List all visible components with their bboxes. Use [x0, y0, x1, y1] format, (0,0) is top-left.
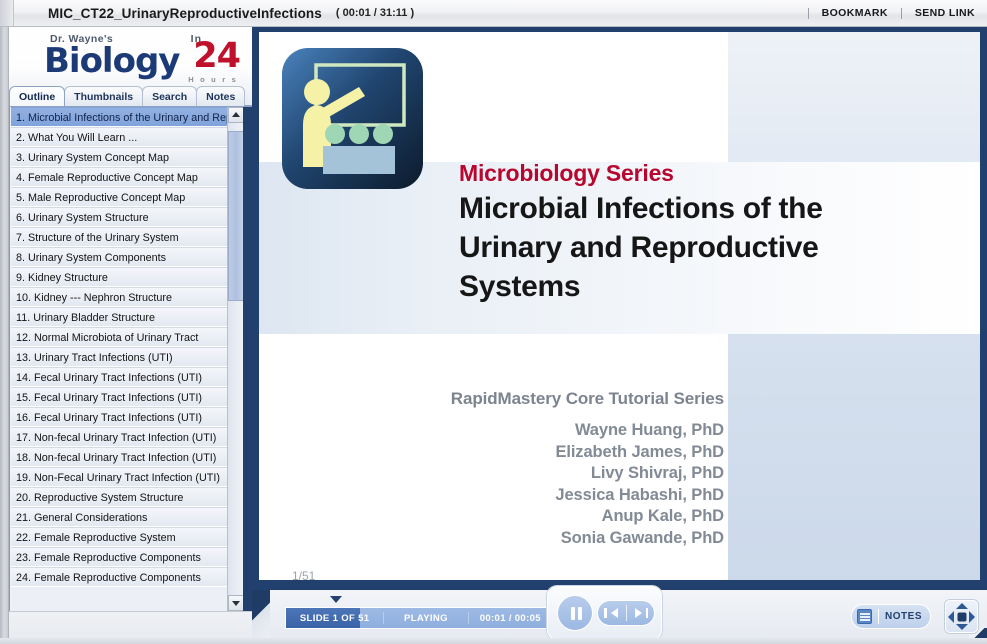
- sidebar: Dr. Wayne's Biology In 24 H o u r s Outl…: [0, 27, 252, 644]
- step-controls: [597, 600, 655, 626]
- outline-item[interactable]: 10. Kidney --- Nephron Structure: [11, 287, 237, 307]
- send-link-button[interactable]: SEND LINK: [915, 7, 975, 19]
- window-bottom-strip: [0, 638, 987, 644]
- notes-button-label: NOTES: [885, 611, 926, 622]
- notes-document-icon: [857, 609, 872, 624]
- outline-item[interactable]: 5. Male Reproductive Concept Map: [11, 187, 237, 207]
- playback-status: PLAYING: [384, 613, 467, 624]
- progress-bar[interactable]: SLIDE 1 OF 51 PLAYING 00:01 / 00:05: [285, 607, 553, 629]
- tab-search[interactable]: Search: [142, 86, 197, 106]
- outline-item[interactable]: 21. General Considerations: [11, 507, 237, 527]
- expand-down-icon: [956, 624, 968, 630]
- tab-thumbnails[interactable]: Thumbnails: [64, 86, 143, 106]
- expand-up-icon: [956, 603, 968, 609]
- slide-counter: 1/51: [292, 569, 315, 580]
- author-name: Livy Shivraj, PhD: [374, 463, 724, 485]
- outline-panel: 1. Microbial Infections of the Urinary a…: [9, 107, 252, 611]
- chevron-down-icon: [232, 601, 240, 606]
- step-backward-bar-icon: [604, 608, 607, 618]
- logo-hours-text: H o u r s: [188, 75, 238, 84]
- bookmark-button[interactable]: BOOKMARK: [822, 7, 888, 19]
- outline-list[interactable]: 1. Microbial Infections of the Urinary a…: [11, 107, 237, 611]
- outline-item[interactable]: 12. Normal Microbiota of Urinary Tract: [11, 327, 237, 347]
- window-title-bar: MIC_CT22_UrinaryReproductiveInfections (…: [0, 0, 987, 27]
- slide-title-line-3: Systems: [459, 267, 979, 306]
- sidebar-left-gutter: [0, 27, 9, 644]
- slide-title: Microbial Infections of the Urinary and …: [459, 189, 979, 306]
- author-name: Sonia Gawande, PhD: [374, 528, 724, 550]
- playback-time: 00:01 / 00:05: [469, 613, 552, 624]
- scrollbar-thumb[interactable]: [228, 131, 244, 301]
- tabs-filler: [244, 87, 252, 106]
- next-step-button[interactable]: [627, 601, 655, 625]
- outline-item[interactable]: 6. Urinary System Structure: [11, 207, 237, 227]
- scroll-down-button[interactable]: [228, 595, 244, 611]
- fullscreen-button[interactable]: [945, 600, 978, 633]
- author-name: Elizabeth James, PhD: [374, 442, 724, 464]
- author-name: Anup Kale, PhD: [374, 506, 724, 528]
- page-title: MIC_CT22_UrinaryReproductiveInfections: [48, 6, 322, 21]
- outline-item[interactable]: 23. Female Reproductive Components: [11, 547, 237, 567]
- logo-main-text: Biology: [44, 41, 179, 81]
- author-name: Jessica Habashi, PhD: [374, 485, 724, 507]
- outline-right-rail: [243, 107, 252, 611]
- outline-item[interactable]: 4. Female Reproductive Concept Map: [11, 167, 237, 187]
- progress-panel: SLIDE 1 OF 51 PLAYING 00:01 / 00:05: [268, 590, 558, 644]
- outline-item[interactable]: 14. Fecal Urinary Tract Infections (UTI): [11, 367, 237, 387]
- author-list: Wayne Huang, PhD Elizabeth James, PhD Li…: [374, 420, 724, 549]
- expand-right-icon: [969, 611, 975, 623]
- notes-button[interactable]: NOTES: [851, 604, 931, 629]
- sidebar-tabs: Outline Thumbnails Search Notes: [9, 87, 252, 107]
- slide-title-block: Microbiology Series Microbial Infections…: [459, 160, 979, 306]
- playback-toolbar: SLIDE 1 OF 51 PLAYING 00:01 / 00:05: [252, 590, 987, 644]
- slide-title-line-1: Microbial Infections of the: [459, 189, 979, 228]
- outline-item[interactable]: 2. What You Will Learn ...: [11, 127, 237, 147]
- outline-item[interactable]: 1. Microbial Infections of the Urinary a…: [11, 107, 237, 127]
- total-time-display: ( 00:01 / 31:11 ): [336, 7, 414, 19]
- titlebar-left-gutter: [0, 0, 14, 26]
- step-forward-icon: [635, 608, 642, 618]
- pause-icon: [571, 607, 575, 620]
- transport-controls: [547, 586, 662, 640]
- outline-item[interactable]: 3. Urinary System Concept Map: [11, 147, 237, 167]
- outline-item[interactable]: 9. Kidney Structure: [11, 267, 237, 287]
- outline-item[interactable]: 13. Urinary Tract Infections (UTI): [11, 347, 237, 367]
- previous-step-button[interactable]: [598, 601, 626, 625]
- author-name: Wayne Huang, PhD: [374, 420, 724, 442]
- divider: [901, 8, 902, 19]
- divider: [878, 609, 879, 624]
- biology24-logo: Dr. Wayne's Biology In 24 H o u r s: [42, 30, 242, 86]
- outline-item[interactable]: 17. Non-fecal Urinary Tract Infection (U…: [11, 427, 237, 447]
- tab-notes[interactable]: Notes: [196, 86, 245, 106]
- teacher-presenting-icon: [281, 47, 424, 190]
- brand-logo-area: Dr. Wayne's Biology In 24 H o u r s: [9, 27, 252, 87]
- progress-marker-icon: [330, 596, 342, 603]
- chevron-up-icon: [232, 112, 240, 117]
- outline-item[interactable]: 11. Urinary Bladder Structure: [11, 307, 237, 327]
- outline-item[interactable]: 16. Fecal Urinary Tract Infections (UTI): [11, 407, 237, 427]
- scroll-up-button[interactable]: [228, 107, 244, 123]
- outline-item[interactable]: 18. Non-fecal Urinary Tract Infection (U…: [11, 447, 237, 467]
- presentation-player: MIC_CT22_UrinaryReproductiveInfections (…: [0, 0, 987, 644]
- slide-title-line-2: Urinary and Reproductive: [459, 228, 979, 267]
- tab-outline[interactable]: Outline: [9, 86, 65, 106]
- outline-item[interactable]: 19. Non-Fecal Urinary Tract Infection (U…: [11, 467, 237, 487]
- divider: [808, 8, 809, 19]
- series-label: Microbiology Series: [459, 160, 979, 187]
- step-forward-bar-icon: [646, 608, 649, 618]
- titlebar-actions: BOOKMARK SEND LINK: [795, 7, 987, 19]
- outline-item[interactable]: 24. Female Reproductive Components: [11, 567, 237, 587]
- step-backward-icon: [611, 608, 618, 618]
- outline-scrollbar[interactable]: [227, 107, 243, 611]
- logo-number-text: 24: [193, 36, 240, 76]
- pause-icon: [578, 607, 582, 620]
- core-series-label: RapidMastery Core Tutorial Series: [374, 389, 724, 409]
- outline-item[interactable]: 22. Female Reproductive System: [11, 527, 237, 547]
- slide-stage: Microbiology Series Microbial Infections…: [252, 27, 987, 590]
- outline-item[interactable]: 15. Fecal Urinary Tract Infections (UTI): [11, 387, 237, 407]
- slide-indicator: SLIDE 1 OF 51: [286, 613, 383, 624]
- fullscreen-center-icon: [957, 612, 966, 621]
- expand-left-icon: [948, 611, 954, 623]
- outline-item[interactable]: 20. Reproductive System Structure: [11, 487, 237, 507]
- outline-item[interactable]: 7. Structure of the Urinary System: [11, 227, 237, 247]
- outline-item[interactable]: 8. Urinary System Components: [11, 247, 237, 267]
- slide-canvas[interactable]: Microbiology Series Microbial Infections…: [259, 32, 980, 580]
- pause-button[interactable]: [557, 595, 593, 631]
